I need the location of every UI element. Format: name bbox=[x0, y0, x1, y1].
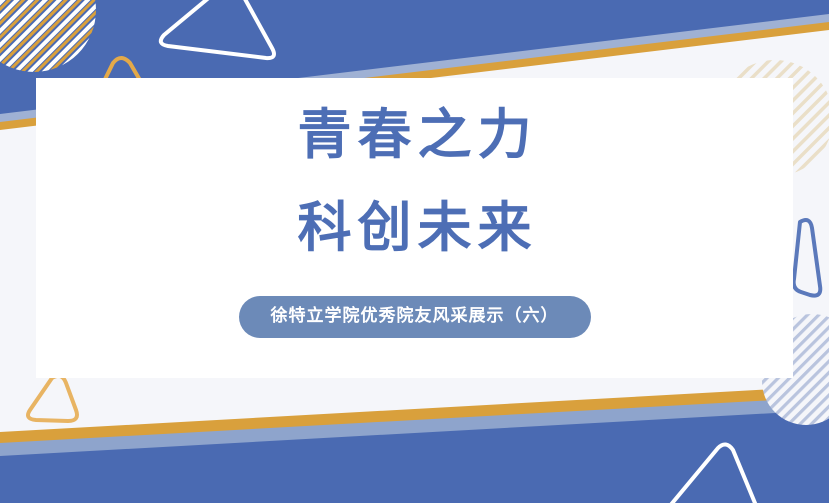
poster-canvas: 青春之力 科创未来 徐特立学院优秀院友风采展示（六） bbox=[0, 0, 829, 503]
content-card: 青春之力 科创未来 徐特立学院优秀院友风采展示（六） bbox=[36, 78, 793, 378]
title-block: 青春之力 科创未来 bbox=[36, 108, 793, 255]
subtitle-badge: 徐特立学院优秀院友风采展示（六） bbox=[239, 296, 591, 338]
page-title-line-1: 青春之力 bbox=[36, 108, 793, 162]
page-title-line-2: 科创未来 bbox=[36, 201, 793, 255]
